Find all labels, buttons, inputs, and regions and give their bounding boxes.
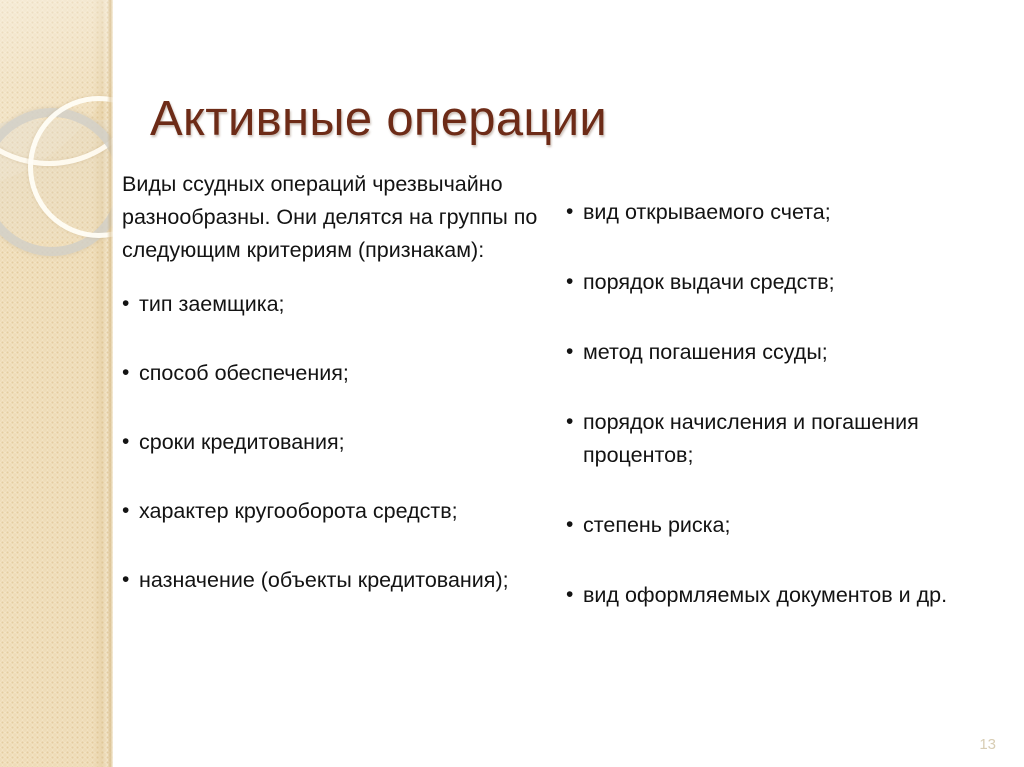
page-number: 13 [979, 736, 996, 753]
list-item: способ обеспечения; [122, 357, 552, 390]
list-item: порядок выдачи средств; [566, 266, 966, 299]
sidebar-edge [107, 0, 113, 767]
page-title: Активные операции [150, 91, 990, 147]
right-bullet-list: вид открываемого счета; порядок выдачи с… [566, 196, 966, 612]
list-item: вид открываемого счета; [566, 196, 966, 229]
left-content-column: Виды ссудных операций чрезвычайно разноо… [122, 168, 552, 597]
list-item: метод погашения ссуды; [566, 336, 966, 369]
list-item: характер кругооборота средств; [122, 495, 552, 528]
slide: Активные операции Виды ссудных операций … [0, 0, 1024, 767]
list-item: порядок начисления и погашения процентов… [566, 406, 966, 472]
decorative-sidebar [0, 0, 113, 767]
left-bullet-list: тип заемщика; способ обеспечения; сроки … [122, 288, 552, 597]
list-item: назначение (объекты кредитования); [122, 564, 552, 597]
right-content-column: вид открываемого счета; порядок выдачи с… [566, 196, 966, 649]
list-item: сроки кредитования; [122, 426, 552, 459]
list-item: вид оформляемых документов и др. [566, 579, 966, 612]
intro-paragraph: Виды ссудных операций чрезвычайно разноо… [122, 168, 552, 267]
list-item: степень риска; [566, 509, 966, 542]
list-item: тип заемщика; [122, 288, 552, 321]
